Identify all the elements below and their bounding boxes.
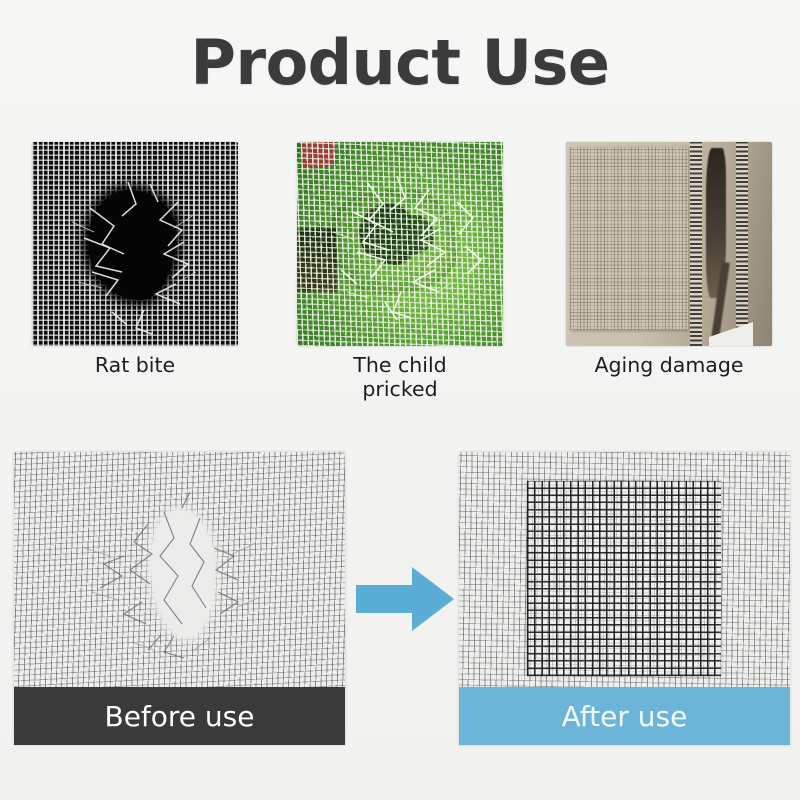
arrow-right-icon	[356, 563, 454, 635]
green-foliage-mesh-photo	[297, 142, 503, 346]
dark-mesh-screen-photo	[32, 142, 238, 346]
damage-card-caption: The child pricked	[297, 354, 503, 401]
damage-card-caption: Rat bite	[32, 354, 238, 378]
infographic-page: Product Use	[0, 0, 800, 800]
chewed-hole-shape	[88, 190, 176, 300]
damage-card-aging-damage: Aging damage	[566, 142, 772, 346]
after-use-banner: After use	[459, 687, 790, 745]
caption-line-2: pricked	[362, 377, 437, 401]
frame-strip-right	[736, 142, 748, 346]
damage-examples-row: Rat bite	[0, 142, 800, 402]
frame-strip-left	[690, 142, 702, 346]
caption-line-1: The child	[353, 353, 446, 377]
before-use-banner: Before use	[14, 687, 345, 745]
torn-screen-photo	[14, 452, 345, 687]
green-mesh-weave-overlay	[297, 142, 503, 346]
damage-card-caption: Aging damage	[566, 354, 772, 378]
repaired-screen-photo	[459, 452, 790, 687]
aged-mesh-panel	[570, 147, 688, 330]
after-use-card: After use	[459, 452, 790, 745]
after-use-label: After use	[562, 700, 688, 733]
page-title: Product Use	[0, 26, 800, 99]
weathered-screen-photo	[566, 142, 772, 346]
before-use-label: Before use	[104, 700, 254, 733]
damage-card-rat-bite: Rat bite	[32, 142, 238, 346]
before-use-card: Before use	[14, 452, 345, 745]
damage-card-child-pricked: The child pricked	[297, 142, 503, 346]
repair-patch-mesh	[527, 481, 721, 676]
